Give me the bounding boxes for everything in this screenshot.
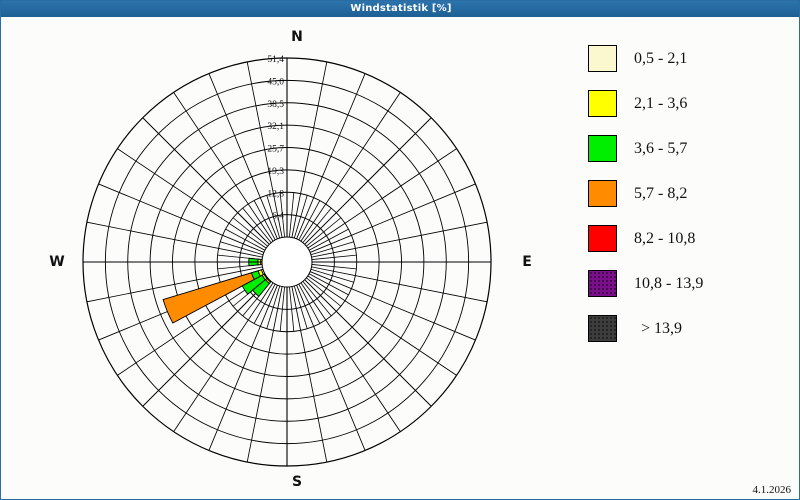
grid-spoke xyxy=(297,285,366,450)
legend-label: > 13,9 xyxy=(641,320,682,338)
legend-row: > 13,9 xyxy=(577,306,792,351)
calm-center-circle xyxy=(262,237,312,287)
legend-swatch xyxy=(588,135,617,162)
grid-spoke-minor xyxy=(299,200,320,239)
legend-row: 8,2 - 10,8 xyxy=(577,216,792,261)
wind-petal-segment xyxy=(163,273,254,323)
speed-legend: 0,5 - 2,12,1 - 3,63,6 - 5,75,7 - 8,28,2 … xyxy=(577,36,792,351)
legend-row: 10,8 - 13,9 xyxy=(577,261,792,306)
legend-row: 0,5 - 2,1 xyxy=(577,36,792,81)
grid-spoke-minor xyxy=(299,284,320,323)
grid-spoke xyxy=(247,287,282,463)
radial-tick-label: 32,1 xyxy=(267,122,284,132)
window-title: Windstatistik [%] xyxy=(350,3,451,14)
grid-spoke xyxy=(143,118,270,245)
radial-tick-label: 45,0 xyxy=(267,77,284,87)
legend-label: 2,1 - 3,6 xyxy=(634,95,687,113)
legend-swatch xyxy=(588,45,617,72)
legend-row: 3,6 - 5,7 xyxy=(577,126,792,171)
radial-tick-label: 51,4 xyxy=(267,55,284,65)
grid-spoke xyxy=(305,118,432,245)
radial-tick-label: 38,5 xyxy=(267,100,284,110)
legend-swatch xyxy=(588,90,617,117)
grid-spoke-minor xyxy=(309,229,348,250)
grid-spoke xyxy=(209,74,278,239)
grid-spoke-minor xyxy=(309,274,348,295)
legend-swatch xyxy=(588,180,617,207)
grid-spoke xyxy=(305,280,432,407)
grid-spoke-minor xyxy=(225,229,264,250)
grid-spoke xyxy=(209,285,278,450)
grid-spoke xyxy=(99,184,264,253)
legend-row: 5,7 - 8,2 xyxy=(577,171,792,216)
grid-spoke xyxy=(297,74,366,239)
radial-tick-labels: 6,412,819,325,732,138,545,051,4 xyxy=(267,55,284,222)
radial-tick-label: 6,4 xyxy=(272,212,284,222)
compass-label-north: N xyxy=(277,29,317,45)
grid-spoke xyxy=(312,222,488,257)
grid-spoke xyxy=(310,272,475,341)
wind-rose-chart: 6,412,819,325,732,138,545,051,4 N S W E xyxy=(2,18,562,500)
legend-label: 0,5 - 2,1 xyxy=(634,50,687,68)
legend-label: 3,6 - 5,7 xyxy=(634,140,687,158)
legend-label: 8,2 - 10,8 xyxy=(634,230,695,248)
wind-statistics-window: Windstatistik [%] 6,412,819,325,732,138,… xyxy=(0,0,800,500)
legend-label: 10,8 - 13,9 xyxy=(634,275,703,293)
grid-spoke xyxy=(292,287,327,463)
radial-tick-label: 12,8 xyxy=(267,189,284,199)
grid-spoke xyxy=(292,62,327,238)
wind-rose-svg: 6,412,819,325,732,138,545,051,4 xyxy=(2,18,562,500)
window-content: 6,412,819,325,732,138,545,051,4 N S W E … xyxy=(2,18,800,500)
compass-label-west: W xyxy=(37,254,77,270)
radial-tick-label: 25,7 xyxy=(267,145,284,155)
window-title-bar: Windstatistik [%] xyxy=(1,1,800,17)
grid-spoke xyxy=(87,222,263,257)
legend-label: 5,7 - 8,2 xyxy=(634,185,687,203)
grid-spoke xyxy=(312,267,488,302)
legend-swatch xyxy=(588,270,617,297)
legend-swatch xyxy=(588,225,617,252)
compass-label-south: S xyxy=(277,474,317,490)
grid-spoke xyxy=(310,184,475,253)
compass-label-east: E xyxy=(507,254,547,270)
date-stamp: 4.1.2026 xyxy=(753,484,792,496)
radial-tick-label: 19,3 xyxy=(267,167,284,177)
legend-row: 2,1 - 3,6 xyxy=(577,81,792,126)
legend-swatch xyxy=(588,315,617,342)
